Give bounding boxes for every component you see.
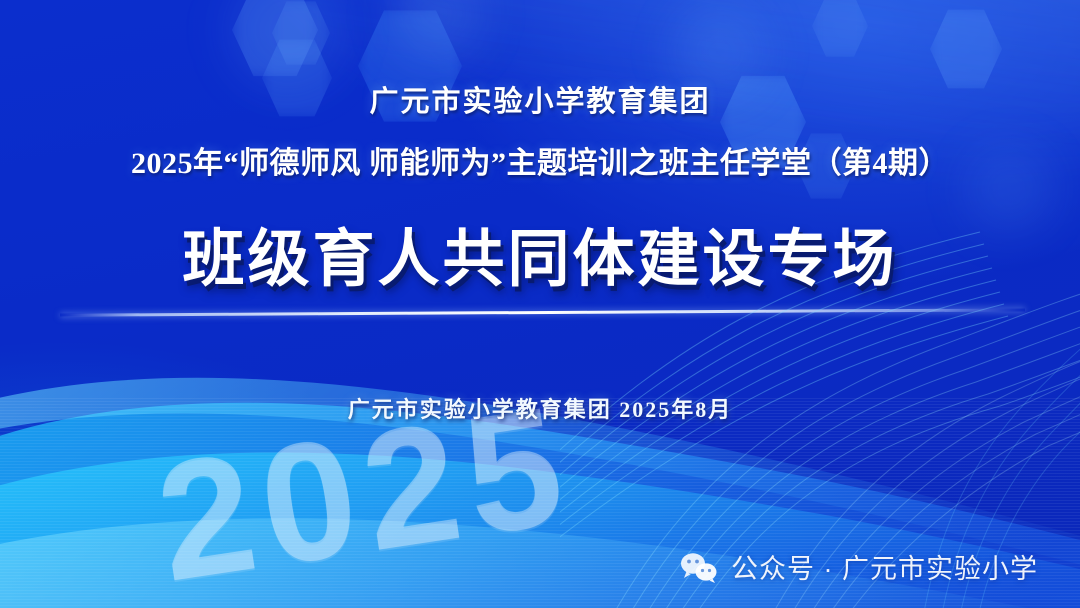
wechat-icon <box>679 551 719 583</box>
watermark: 公众号 · 广元市实验小学 <box>679 547 1038 586</box>
theme-line: 2025年“师德师风 师能师为”主题培训之班主任学堂（第4期） <box>131 138 949 182</box>
main-title: 班级育人共同体建设专场 <box>182 208 897 298</box>
poster-content: 广元市实验小学教育集团 2025年“师德师风 师能师为”主题培训之班主任学堂（第… <box>0 0 1080 608</box>
watermark-text: 公众号 · 广元市实验小学 <box>731 547 1038 586</box>
footer-line: 广元市实验小学教育集团 2025年8月 <box>0 392 1080 424</box>
organization-line: 广元市实验小学教育集团 <box>369 78 710 120</box>
poster-canvas: 2025 <box>0 0 1080 608</box>
